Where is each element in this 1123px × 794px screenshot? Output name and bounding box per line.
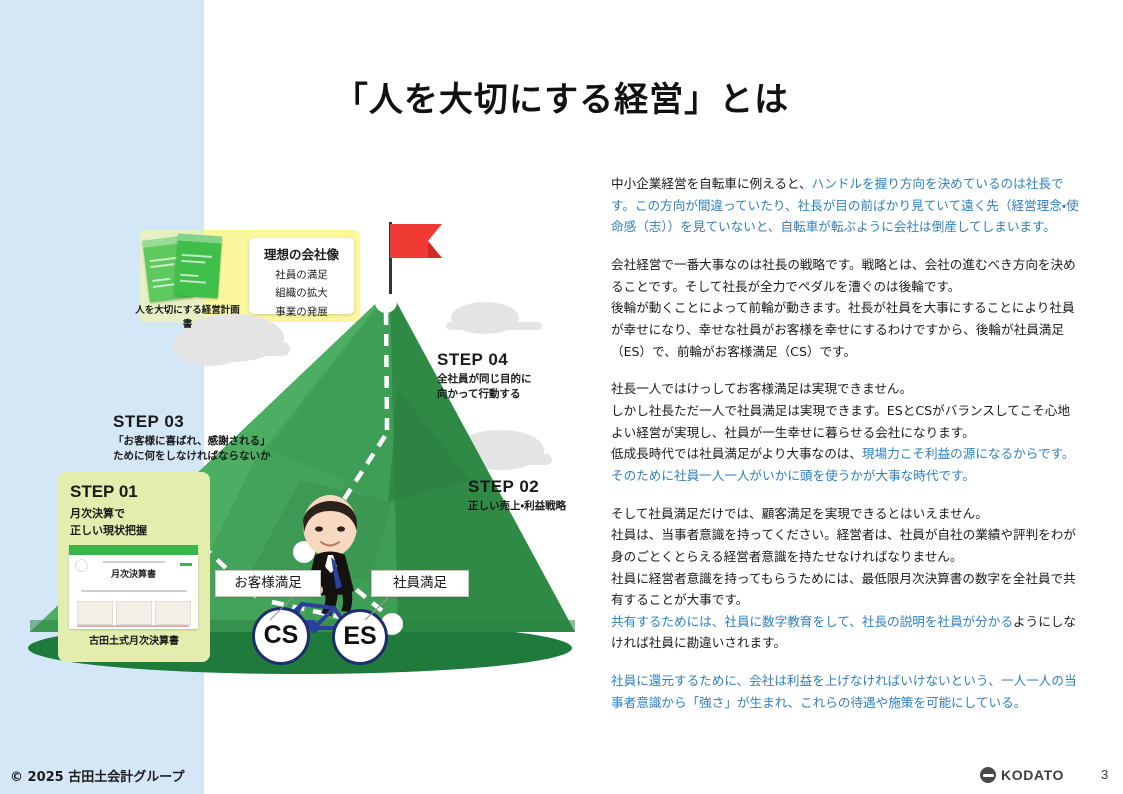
body-text-highlighted: 共有するためには、社員に数字教育をして、社長の説明を社員が分かる	[611, 614, 1013, 629]
step-03-sub: 「お客様に喜ばれ、感謝される」 ために何をしなければならないか	[113, 434, 271, 464]
body-text-column: 中小企業経営を自転車に例えると、ハンドルを握り方向を決めているのは社長です。この…	[611, 173, 1081, 713]
customer-satisfaction-callout: お客様満足	[215, 570, 321, 597]
body-paragraph: そして社員満足だけでは、顧客満足を実現できるとはいえません。社員は、当事者意識を…	[611, 503, 1081, 655]
body-text-highlighted: 社員に還元するために、会社は利益を上げなければいけないという、一人一人の当事者意…	[611, 673, 1077, 710]
body-paragraph: 社員に還元するために、会社は利益を上げなければいけないという、一人一人の当事者意…	[611, 670, 1081, 713]
ideal-company-item: 組織の拡大	[249, 285, 354, 300]
body-text: しかし社長ただ一人で社員満足は実現できます。ESとCSがバランスしてこそ心地よい…	[611, 403, 1070, 440]
plan-book-caption: 人を大切にする経営計画書	[135, 302, 240, 330]
body-paragraph: 中小企業経営を自転車に例えると、ハンドルを握り方向を決めているのは社長です。この…	[611, 173, 1081, 238]
body-text: 会社経営で一番大事なのは社長の戦略です。戦略とは、会社の進むべき方向を決めること…	[611, 257, 1076, 294]
step-02-heading: STEP 02	[468, 477, 566, 497]
step-01-heading: STEP 01	[70, 482, 138, 502]
body-text: 社員に経営者意識を持ってもらうためには、最低限月次決算書の数字を全社員で共有する…	[611, 571, 1076, 608]
step-01-sub: 月次決算で 正しい現状把握	[70, 506, 147, 539]
mountain-journey-diagram: 人を大切にする経営計画書 理想の会社像 社員の満足 組織の拡大 事業の発展 ST…	[0, 150, 600, 690]
monthly-report-thumbnail: 月次決算書	[69, 545, 198, 629]
step-01-card: STEP 01 月次決算で 正しい現状把握 月次決算書 古田土式月次決算書	[58, 472, 210, 662]
body-text: 社長一人ではけっしてお客様満足は実現できません。	[611, 381, 912, 396]
step-02-sub: 正しい売上・利益戦略	[468, 499, 566, 514]
es-wheel: ES	[332, 609, 388, 665]
management-plan-book-2	[174, 234, 222, 299]
summit-flag-icon	[390, 224, 450, 266]
ideal-company-item: 事業の発展	[249, 304, 354, 319]
body-text: 中小企業経営を自転車に例えると、	[611, 176, 812, 191]
body-text: 社員は、当事者意識を持ってください。経営者は、社員が自社の業績や評判をわが身のご…	[611, 527, 1076, 564]
step-04-sub: 全社員が同じ目的に 向かって行動する	[437, 372, 532, 402]
step-01-caption: 古田土式月次決算書	[58, 632, 210, 647]
step-04-label: STEP 04 全社員が同じ目的に 向かって行動する	[437, 350, 532, 402]
ideal-company-item: 社員の満足	[249, 267, 354, 282]
kodato-logo-icon	[980, 767, 996, 783]
step-03-label: STEP 03 「お客様に喜ばれ、感謝される」 ために何をしなければならないか	[113, 412, 271, 464]
brand-name: KODATO	[1001, 767, 1064, 783]
employee-satisfaction-callout: 社員満足	[371, 570, 469, 597]
copyright-text: © 2025 古田土会計グループ	[10, 766, 184, 785]
page-number: 3	[1101, 767, 1108, 782]
cs-wheel: CS	[252, 607, 310, 665]
brand-logo: KODATO	[980, 767, 1064, 783]
ideal-company-heading: 理想の会社像	[249, 244, 354, 263]
monthly-report-title: 月次決算書	[69, 567, 198, 580]
body-paragraph: 会社経営で一番大事なのは社長の戦略です。戦略とは、会社の進むべき方向を決めること…	[611, 254, 1081, 362]
ideal-company-box: 理想の会社像 社員の満足 組織の拡大 事業の発展	[249, 238, 354, 314]
step-02-label: STEP 02 正しい売上・利益戦略	[468, 477, 566, 514]
step-03-heading: STEP 03	[113, 412, 271, 432]
step-04-heading: STEP 04	[437, 350, 532, 370]
body-text: 後輪が動くことによって前輪が動きます。社長が社員を大事にすることにより社員が幸せ…	[611, 300, 1075, 358]
body-text: そして社員満足だけでは、顧客満足を実現できるとはいえません。	[611, 506, 988, 521]
page-title: 「人を大切にする経営」とは	[0, 72, 1123, 121]
body-paragraph: 社長一人ではけっしてお客様満足は実現できません。しかし社長ただ一人で社員満足は実…	[611, 378, 1081, 486]
body-text: 低成長時代では社員満足がより大事なのは、	[611, 446, 862, 461]
